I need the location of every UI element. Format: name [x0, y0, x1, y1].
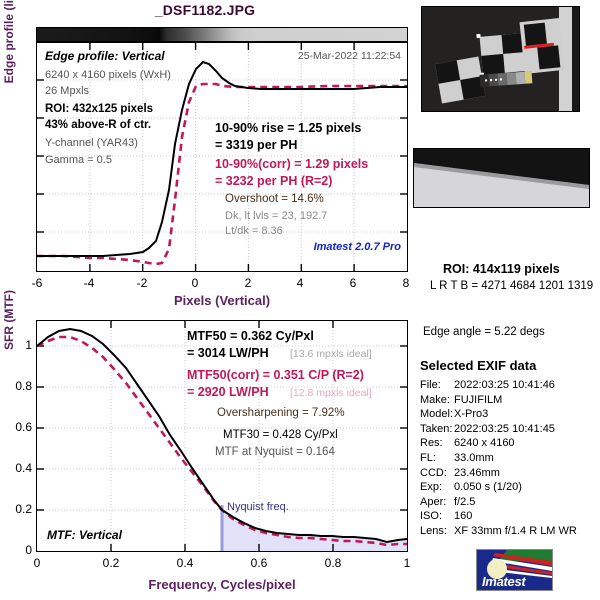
roi-edge-crop[interactable] [413, 148, 590, 208]
channel-info: Y-channel (YAR43) [45, 137, 138, 149]
edge-xtick-6: 6 [350, 276, 357, 290]
exif-value: 2022:03:25 10:41:46 [454, 379, 555, 391]
mtf-xtick-04: 0.4 [177, 556, 194, 570]
exif-value: 6240 x 4160 [454, 437, 515, 449]
mtf-xtick-0: 0 [34, 556, 41, 570]
exif-value: FUJIFILM [454, 394, 502, 406]
mtf50-line2: = 3014 LW/PH [187, 346, 269, 360]
rise-value-line2: = 3319 per PH [215, 138, 297, 152]
edge-profile-heading: Edge profile: Vertical [45, 49, 165, 63]
imatest-logo-text: Imatest [482, 574, 525, 589]
capture-timestamp: 25-Mar-2022 11:22:54 [298, 50, 401, 62]
mtf-plot-title: MTF: Vertical [47, 528, 122, 542]
mtf-ytick-04: 0.4 [8, 461, 32, 475]
exif-value: 0.050 s (1/20) [454, 481, 522, 493]
edge-xtick-8: 8 [403, 276, 410, 290]
exif-key: Model: [420, 407, 454, 422]
exif-row: Lens:XF 33mm f/1.4 R LM WR [420, 524, 600, 539]
exif-key: Exp: [420, 480, 454, 495]
rise-value-line1: 10-90% rise = 1.25 pixels [215, 121, 361, 135]
mtf-curve-measured [37, 329, 407, 542]
gamma-value: Gamma = 0.5 [45, 154, 112, 166]
exif-value: 160 [454, 510, 472, 522]
roi-position: 43% above-R of ctr. [45, 119, 151, 131]
exif-row: CCD:23.46mm [420, 466, 600, 481]
mtf-xtick-06: 0.6 [251, 556, 268, 570]
exif-data-list: File:2022:03:25 10:41:46Make:FUJIFILMMod… [420, 378, 600, 539]
edge-profile-y-axis-label: Edge profile (linear) [2, 0, 16, 92]
edge-xtick-m6: -6 [32, 276, 43, 290]
mtf-xtick-08: 0.8 [325, 556, 342, 570]
mtf-at-nyquist-value: MTF at Nyquist = 0.164 [215, 446, 335, 458]
exif-key: ISO: [420, 509, 454, 524]
exif-key: Res: [420, 436, 454, 451]
edge-profile-x-axis-label: Pixels (Vertical) [36, 293, 408, 308]
mtf30-value: MTF30 = 0.428 Cy/Pxl [223, 429, 338, 441]
edge-xtick-m4: -4 [84, 276, 95, 290]
exif-key: Make: [420, 393, 454, 408]
mtf50-corrected-ideal-note: [12.8 mpxls ideal] [290, 387, 372, 399]
exif-row: Res:6240 x 4160 [420, 436, 600, 451]
mtf-y-axis-label: SFR (MTF) [2, 260, 16, 380]
exif-key: Taken: [420, 422, 454, 437]
mtf-xtick-02: 0.2 [103, 556, 120, 570]
rise-corrected-line1: 10-90%(corr) = 1.29 pixels [215, 157, 368, 171]
image-resolution: 6240 x 4160 pixels (WxH) [45, 69, 171, 81]
exif-row: Model:X-Pro3 [420, 407, 600, 422]
exif-row: ISO:160 [420, 509, 600, 524]
mtf50-line1: MTF50 = 0.362 Cy/Pxl [187, 329, 314, 343]
page-title: _DSF1182.JPG [0, 2, 410, 18]
roi-size: ROI: 432x125 pixels [45, 103, 153, 115]
mtf50-corrected-line2: = 2920 LW/PH [187, 385, 269, 399]
sidebar-roi-title: ROI: 414x119 pixels [443, 262, 560, 276]
exif-key: CCD: [420, 466, 454, 481]
exif-key: File: [420, 378, 454, 393]
mtf-chart: MTF50 = 0.362 Cy/Pxl = 3014 LW/PH [13.6 … [36, 320, 408, 552]
mtf-ytick-02: 0.2 [8, 502, 32, 516]
sidebar-roi-bounds: L R T B = 4271 4684 1201 1319 [430, 280, 593, 292]
exif-key: Aper: [420, 495, 454, 510]
exif-row: Aper:f/2.5 [420, 495, 600, 510]
imatest-logo[interactable]: Imatest [476, 549, 553, 591]
exif-value: XF 33mm f/1.4 R LM WR [454, 525, 577, 537]
exif-key: FL: [420, 451, 454, 466]
imatest-version-brand: Imatest 2.0.7 Pro [314, 241, 401, 253]
mtf50-corrected-line1: MTF50(corr) = 0.351 C/P (R=2) [187, 368, 364, 382]
exif-row: Taken:2022:03:25 10:41:45 [420, 422, 600, 437]
nyquist-frequency-label: Nyquist freq. [227, 501, 289, 513]
exif-key: Lens: [420, 524, 454, 539]
edge-xtick-0: 0 [192, 276, 199, 290]
mtf-ytick-06: 0.6 [8, 420, 32, 434]
exif-row: Make:FUJIFILM [420, 393, 600, 408]
light-dark-ratio: Lt/dk = 8.36 [225, 225, 283, 237]
dark-light-levels: Dk, lt lvls = 23, 192.7 [225, 210, 327, 222]
exif-row: File:2022:03:25 10:41:46 [420, 378, 600, 393]
edge-xtick-4: 4 [297, 276, 304, 290]
image-megapixels: 26 Mpxls [45, 85, 89, 97]
exif-value: 33.0mm [454, 452, 494, 464]
rise-corrected-line2: = 3232 per PH (R=2) [215, 174, 332, 188]
edge-xtick-2: 2 [245, 276, 252, 290]
exif-value: 23.46mm [454, 467, 500, 479]
exif-row: FL:33.0mm [420, 451, 600, 466]
mtf-ytick-08: 0.8 [8, 379, 32, 393]
exif-value: f/2.5 [454, 496, 475, 508]
edge-profile-chart: Edge profile: Vertical 25-Mar-2022 11:22… [36, 42, 408, 272]
mtf-x-axis-label: Frequency, Cycles/pixel [36, 577, 408, 592]
sidebar-edge-angle: Edge angle = 5.22 degs [423, 326, 545, 338]
oversharpening-value: Oversharpening = 7.92% [217, 407, 345, 419]
mtf-ytick-0: 0 [8, 543, 32, 557]
mtf50-ideal-note: [13.6 mpxls ideal] [290, 348, 372, 360]
edge-gradient-bar [36, 27, 408, 42]
overshoot-value: Overshoot = 14.6% [225, 193, 324, 205]
mtf-xtick-1: 1 [404, 556, 411, 570]
edge-xtick-m2: -2 [137, 276, 148, 290]
source-image-thumbnail[interactable] [421, 6, 580, 112]
exif-value: X-Pro3 [454, 408, 488, 420]
exif-section-title: Selected EXIF data [420, 358, 536, 373]
exif-value: 2022:03:25 10:41:45 [454, 423, 555, 435]
mtf-ytick-1: 1 [8, 338, 32, 352]
exif-row: Exp:0.050 s (1/20) [420, 480, 600, 495]
